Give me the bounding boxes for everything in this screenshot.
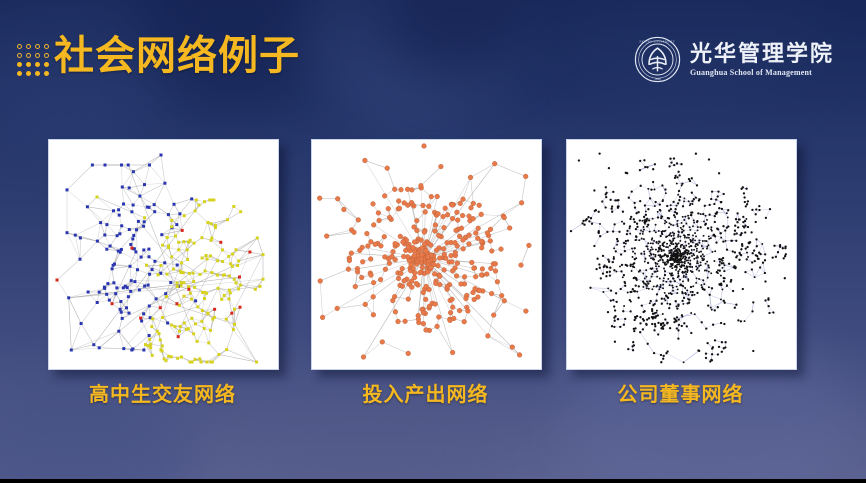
dot-grid-cell bbox=[35, 62, 40, 67]
svg-text:PEKING UNIVERSITY: PEKING UNIVERSITY bbox=[640, 40, 676, 44]
caption-panel-3: 公司董事网络 bbox=[566, 381, 795, 407]
logo-text-block: 光华管理学院 Guanghua School of Management bbox=[690, 42, 834, 78]
dot-grid-cell bbox=[26, 44, 31, 49]
dot-grid-cell bbox=[17, 44, 22, 49]
dot-grid-cell bbox=[35, 71, 40, 76]
dot-grid-cell bbox=[26, 62, 31, 67]
dot-grid-cell bbox=[17, 71, 22, 76]
dot-grid-cell bbox=[26, 53, 31, 58]
dot-grid-cell bbox=[35, 53, 40, 58]
corporate-board-network-graph bbox=[567, 140, 796, 369]
network-image-panel-1 bbox=[48, 139, 279, 370]
dot-grid-cell bbox=[17, 53, 22, 58]
slide-header: 社会网络例子 1898 PEKING UNIVERSITY 光华管理学院 Gua… bbox=[0, 0, 866, 108]
institution-logo: 1898 PEKING UNIVERSITY 光华管理学院 Guanghua S… bbox=[634, 36, 834, 83]
svg-text:1898: 1898 bbox=[654, 77, 661, 81]
caption-panel-2: 投入产出网络 bbox=[311, 381, 540, 407]
dot-grid-cell bbox=[44, 53, 49, 58]
dot-grid-cell bbox=[44, 62, 49, 67]
logo-name-cn: 光华管理学院 bbox=[690, 42, 834, 66]
dot-grid-cell bbox=[26, 71, 31, 76]
bottom-black-bar bbox=[0, 479, 866, 483]
dot-grid-cell bbox=[35, 44, 40, 49]
dot-grid-cell bbox=[44, 44, 49, 49]
network-image-panel-3 bbox=[566, 139, 797, 370]
dot-grid-cell bbox=[17, 62, 22, 67]
peking-university-seal-icon: 1898 PEKING UNIVERSITY bbox=[634, 36, 681, 83]
slide-canvas: 社会网络例子 1898 PEKING UNIVERSITY 光华管理学院 Gua… bbox=[0, 0, 866, 483]
network-image-panel-2 bbox=[311, 139, 542, 370]
caption-panel-1: 高中生交友网络 bbox=[48, 381, 277, 407]
page-title: 社会网络例子 bbox=[54, 34, 300, 78]
dot-grid-cell bbox=[44, 71, 49, 76]
high-school-friendship-network-graph bbox=[49, 140, 278, 369]
input-output-network-graph bbox=[312, 140, 541, 369]
dot-grid-icon bbox=[15, 42, 51, 78]
logo-name-en: Guanghua School of Management bbox=[690, 68, 834, 78]
